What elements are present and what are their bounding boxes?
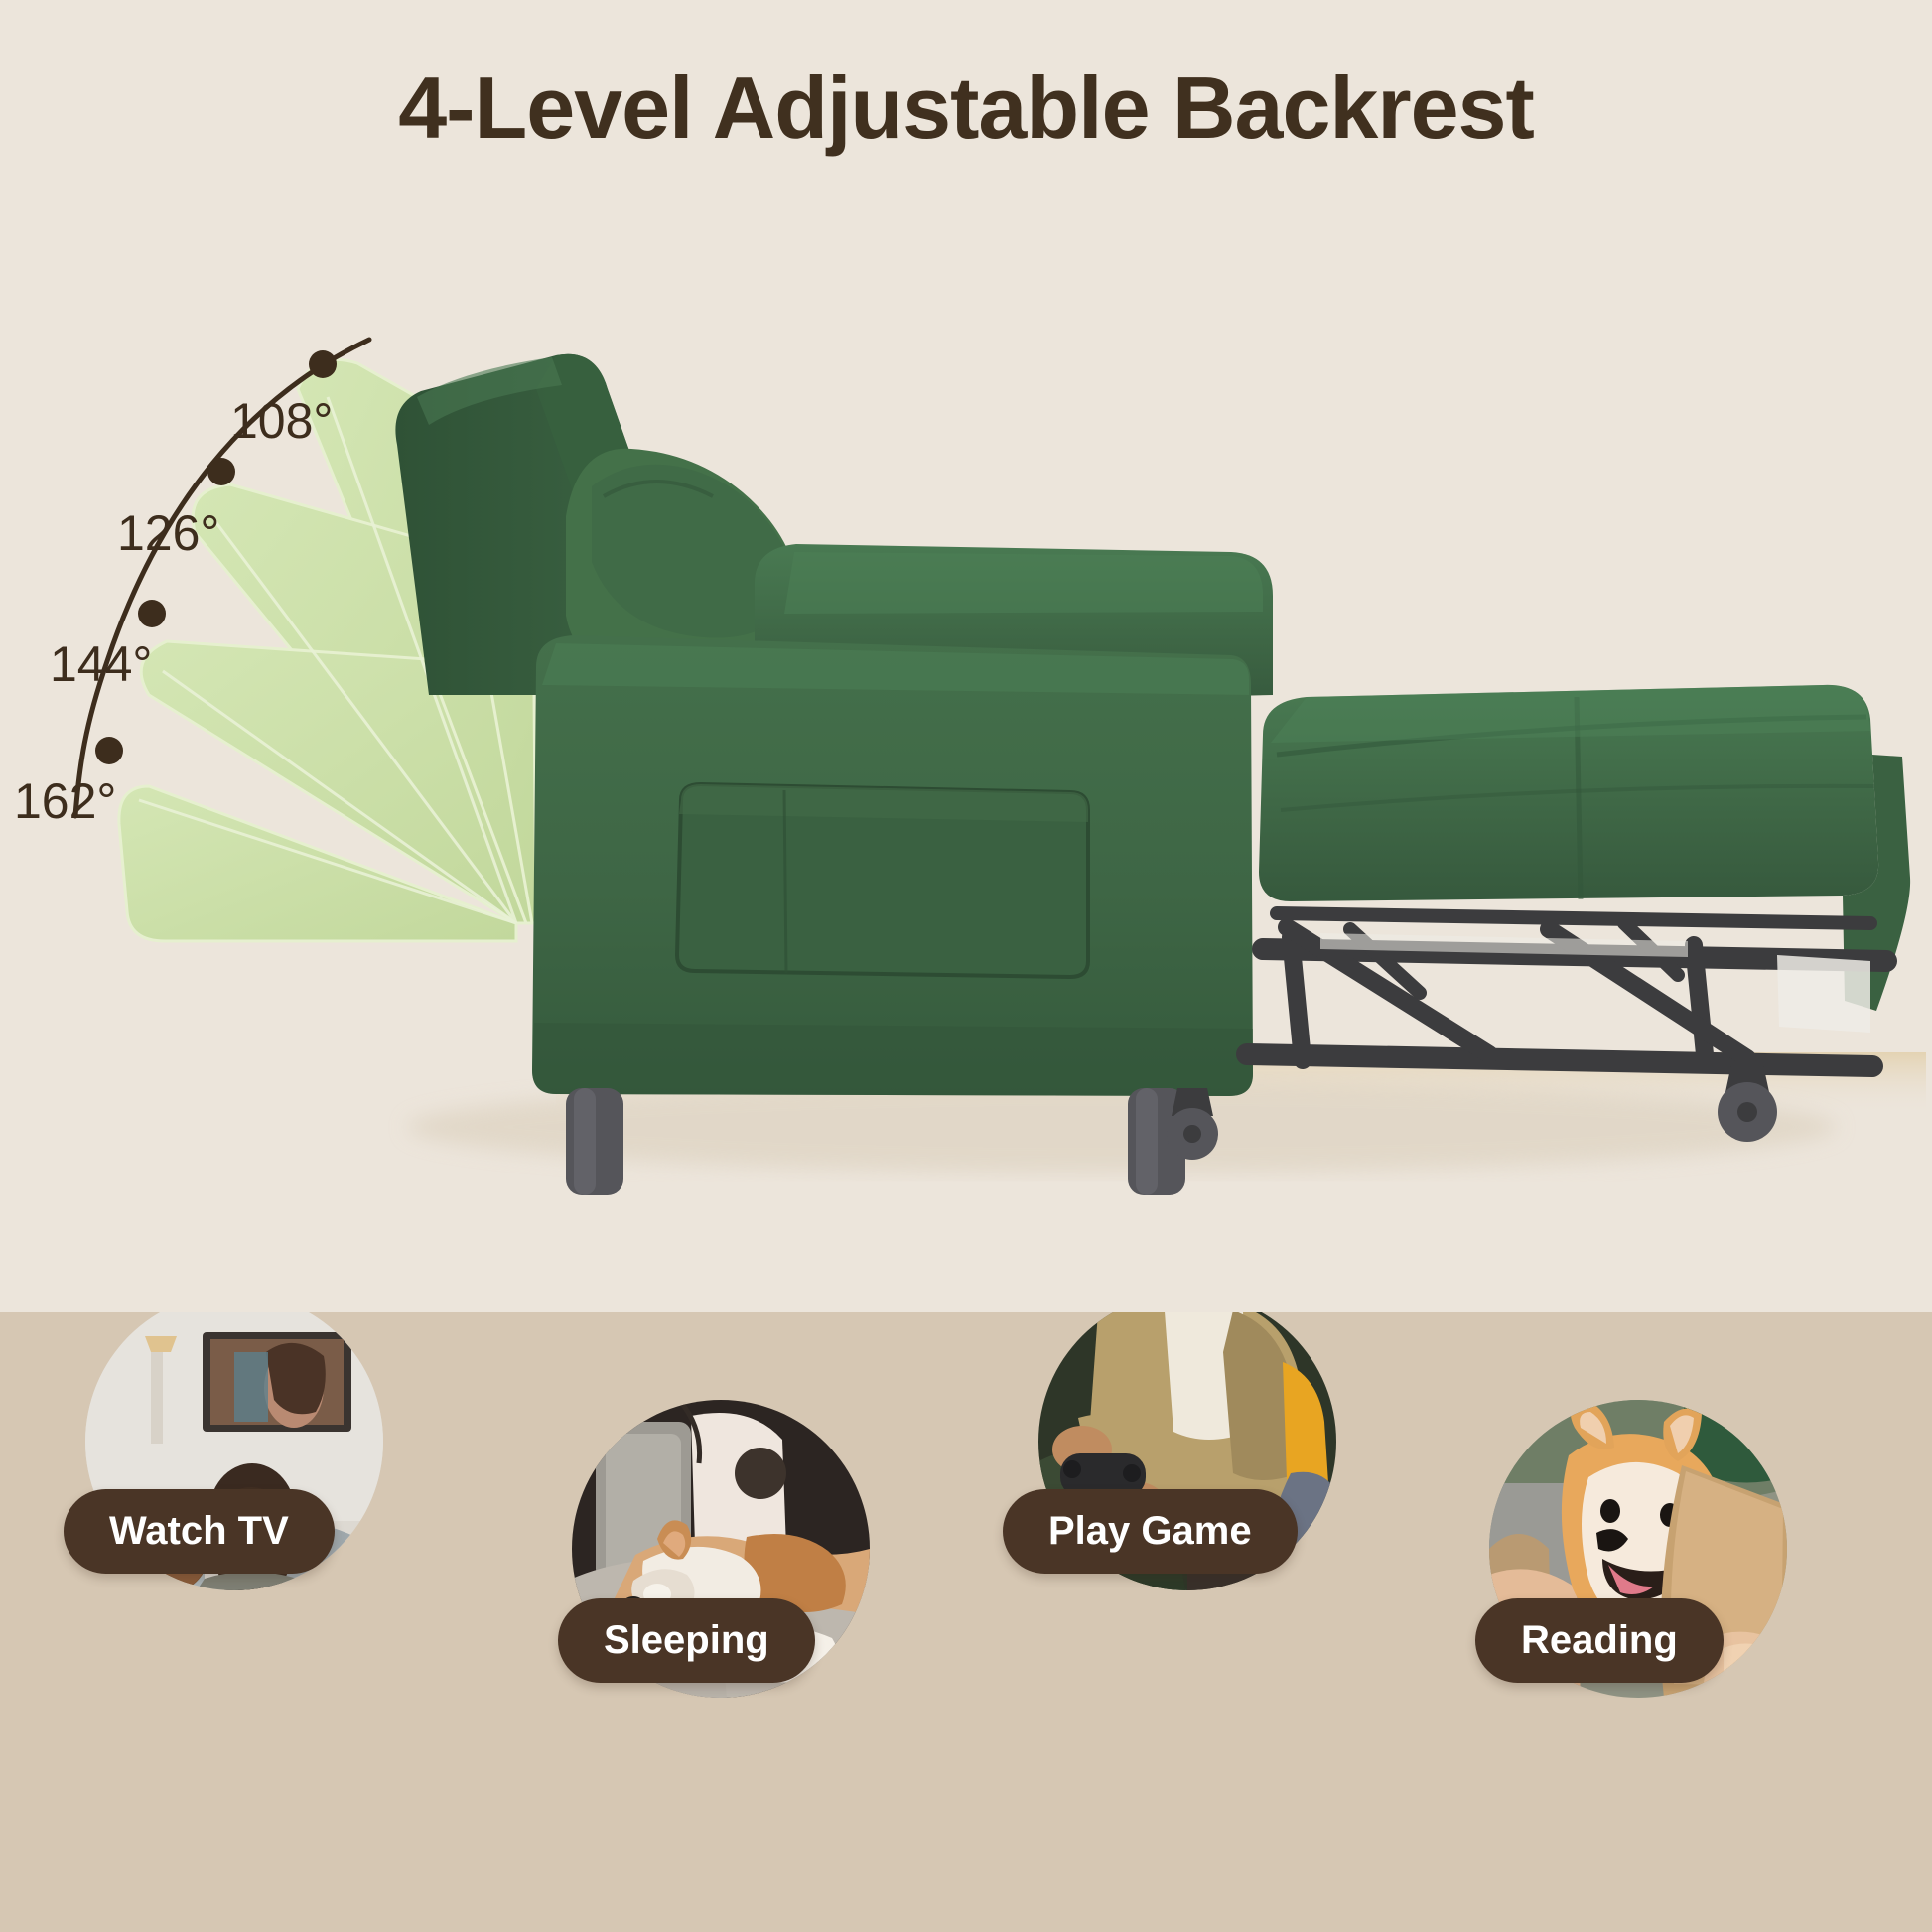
convertible-sofa-bed xyxy=(0,0,1932,1312)
top-panel-adjustable-backrest: 4-Level Adjustable Backrest xyxy=(0,0,1932,1312)
scene-label-watch-tv: Watch TV xyxy=(64,1489,335,1574)
scene-watch-tv: Watch TV xyxy=(85,1312,383,1590)
scene-label-sleeping: Sleeping xyxy=(558,1598,815,1683)
scene-sleeping: Sleeping xyxy=(572,1400,870,1698)
product-infographic: 4-Level Adjustable Backrest xyxy=(0,0,1932,1932)
side-storage-pocket xyxy=(677,784,1088,977)
scene-reading: Reading xyxy=(1489,1400,1787,1698)
scene-label-reading: Reading xyxy=(1475,1598,1724,1683)
scene-play-game: Play Game xyxy=(1038,1312,1336,1590)
use-scenarios-panel: Watch TV xyxy=(0,1312,1932,1932)
scene-label-play-game: Play Game xyxy=(1003,1489,1298,1574)
